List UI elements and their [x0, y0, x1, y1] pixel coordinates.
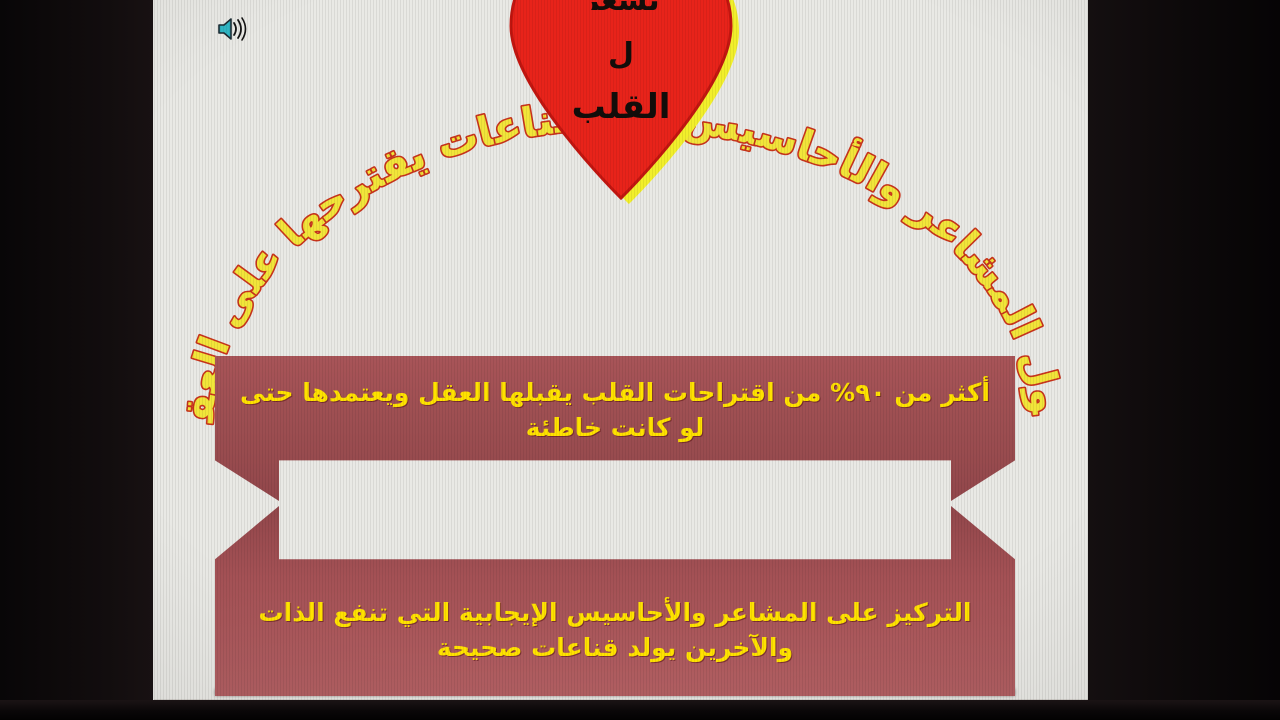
- heart-text-line-3: القلب: [501, 90, 741, 124]
- banner-top: أكثر من ٩٠% من اقتراحات القلب يقبلها الع…: [215, 356, 1015, 501]
- monitor-bezel-right: [1088, 0, 1280, 720]
- speaker-sound-icon-glyph: [216, 14, 250, 44]
- photo-frame: تشعر ل القلب يحول المشاعر والأحاسيس الى …: [0, 0, 1280, 720]
- banner-top-line-2: لو كانت خاطئة: [215, 411, 1015, 446]
- heart-text-line-1: تشعر: [501, 0, 741, 10]
- banner-top-line-1: أكثر من ٩٠% من اقتراحات القلب يقبلها الع…: [215, 376, 1015, 411]
- presentation-slide: تشعر ل القلب يحول المشاعر والأحاسيس الى …: [153, 0, 1088, 700]
- monitor-bezel-left: [0, 0, 154, 720]
- heart-text-line-2: ل: [501, 40, 741, 70]
- banner-bottom-line-2: والآخرين يولد قناعات صحيحة: [215, 631, 1015, 666]
- banner-bottom-line-1: التركيز على المشاعر والأحاسيس الإيجابية …: [215, 596, 1015, 631]
- monitor-bezel-bottom: [0, 700, 1280, 720]
- speaker-sound-icon[interactable]: [216, 14, 250, 44]
- banner-bottom: التركيز على المشاعر والأحاسيس الإيجابية …: [215, 506, 1015, 696]
